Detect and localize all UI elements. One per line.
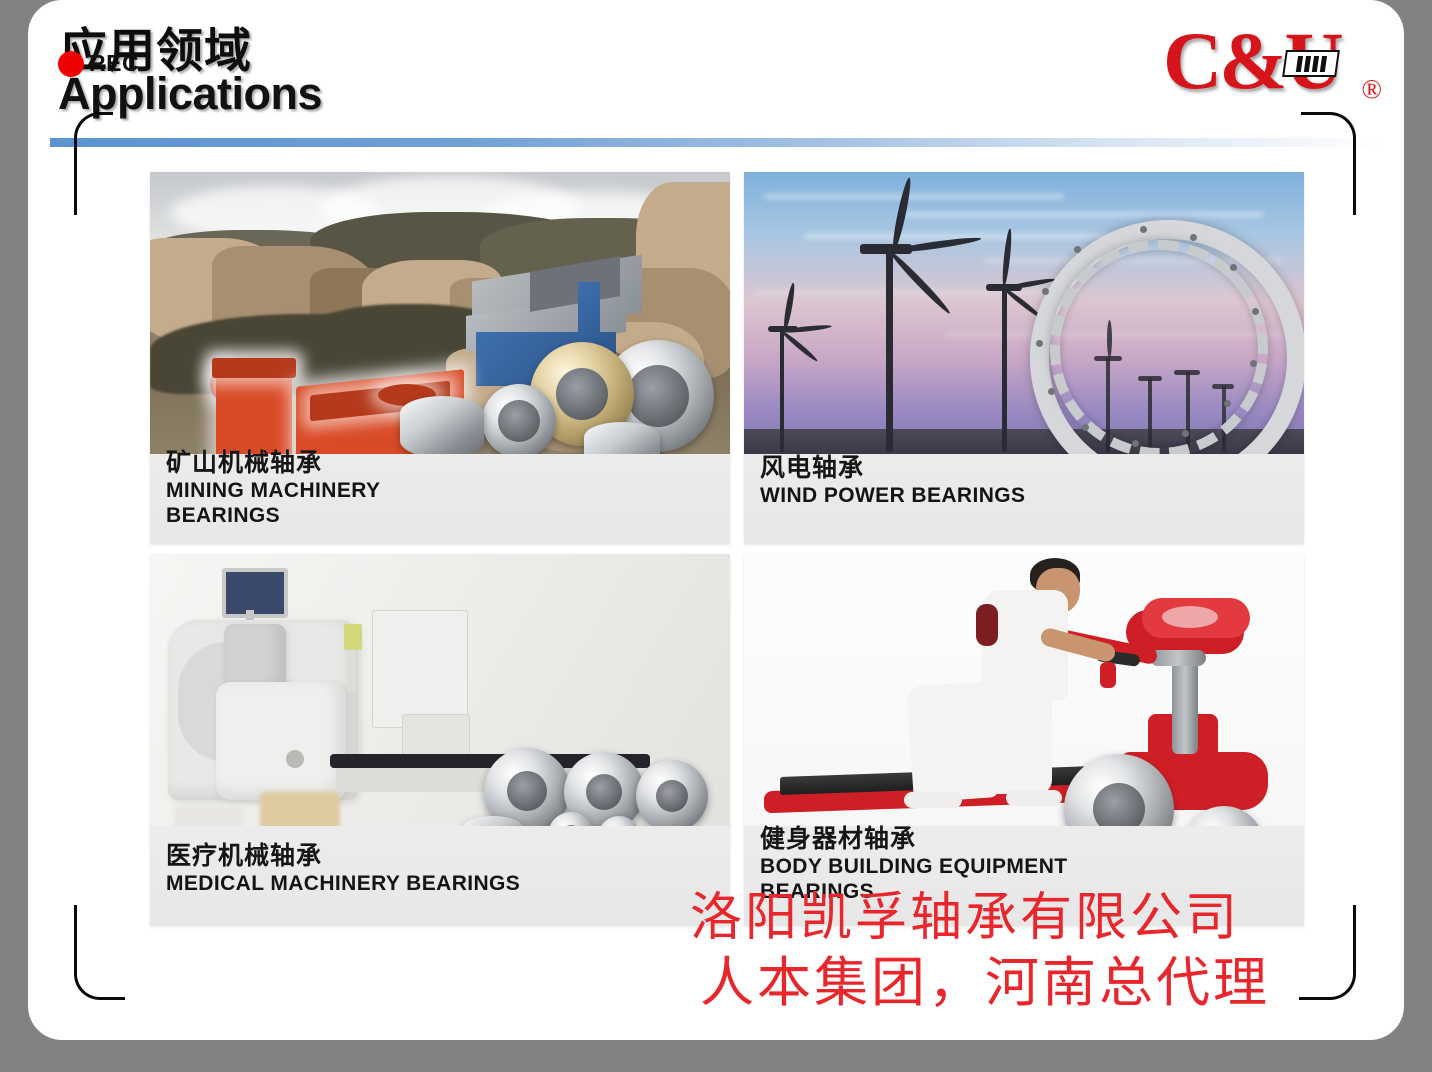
card-photo-fitness: [744, 554, 1304, 826]
card-label-en-1: BODY BUILDING EQUIPMENT: [760, 855, 1294, 879]
cu-logo: C&U ®: [1163, 26, 1378, 121]
corner-bracket-top-right: [1301, 112, 1356, 215]
card-label-zh: 矿山机械轴承: [166, 449, 720, 477]
header-divider: [50, 138, 1384, 147]
application-card-wind[interactable]: 风电轴承 WIND POWER BEARINGS: [744, 172, 1304, 544]
application-card-mining[interactable]: 矿山机械轴承 MINING MACHINERY BEARINGS: [150, 172, 730, 544]
card-label-en-1: MEDICAL MACHINERY BEARINGS: [166, 872, 720, 896]
card-photo-medical: [150, 554, 730, 826]
application-card-fitness[interactable]: 健身器材轴承 BODY BUILDING EQUIPMENT BEARINGS: [744, 554, 1304, 926]
corner-bracket-top-left: [74, 112, 113, 215]
application-card-medical[interactable]: 医疗机械轴承 MEDICAL MACHINERY BEARINGS: [150, 554, 730, 926]
card-label-en-1: MINING MACHINERY: [166, 479, 720, 503]
registered-trademark-icon: ®: [1361, 74, 1382, 105]
rec-indicator: REC: [58, 50, 139, 77]
application-card-grid: 矿山机械轴承 MINING MACHINERY BEARINGS: [150, 172, 1300, 962]
rec-dot-icon: [58, 51, 84, 77]
bearing-deep-groove-1: [484, 748, 570, 826]
mining-quarry-scene: [150, 172, 730, 454]
bearing-deep-groove-3: [636, 760, 708, 826]
slide-header: 应用领域 Applications C&U ®: [28, 0, 1404, 150]
card-label-en-1: WIND POWER BEARINGS: [760, 484, 1294, 508]
wind-farm-scene: [744, 172, 1304, 454]
card-caption-wind: 风电轴承 WIND POWER BEARINGS: [760, 454, 1294, 508]
corner-bracket-bottom-left: [74, 905, 125, 1000]
bearing-cylindrical: [482, 384, 556, 454]
ct-scanner-room-scene: [150, 554, 730, 826]
card-caption-medical: 医疗机械轴承 MEDICAL MACHINERY BEARINGS: [166, 842, 720, 896]
card-label-en-2: BEARINGS: [166, 504, 720, 528]
treadmill-scene: [744, 554, 1304, 826]
slide-panel: 应用领域 Applications C&U ®: [28, 0, 1404, 1040]
card-label-zh: 风电轴承: [760, 454, 1294, 482]
card-label-zh: 医疗机械轴承: [166, 842, 720, 870]
card-caption-mining: 矿山机械轴承 MINING MACHINERY BEARINGS: [166, 449, 720, 528]
card-photo-mining: [150, 172, 730, 454]
card-caption-fitness: 健身器材轴承 BODY BUILDING EQUIPMENT BEARINGS: [760, 825, 1294, 904]
scanner-monitor: [222, 568, 288, 618]
card-label-zh: 健身器材轴承: [760, 825, 1294, 853]
logo-bars-icon: [1282, 50, 1340, 77]
bearing-slewing-ring-gear: [1050, 240, 1268, 454]
rec-label: REC: [89, 50, 139, 77]
corner-bracket-bottom-right: [1299, 905, 1356, 1000]
card-label-en-2: BEARINGS: [760, 880, 1294, 904]
bearing-taper-roller: [400, 396, 484, 454]
card-photo-wind: [744, 172, 1304, 454]
